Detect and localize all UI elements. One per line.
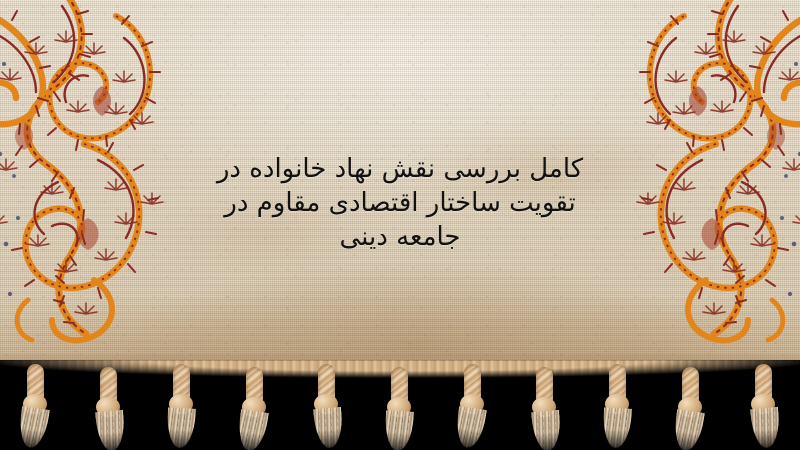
title-line-3: جامعه دینی (180, 220, 620, 254)
fringe-tassel (674, 367, 708, 450)
fringe-tassel (165, 364, 199, 448)
tassel-threads (166, 407, 196, 448)
fringe-tassel (383, 367, 417, 450)
tassel-threads (235, 409, 268, 450)
fringe-tassel (238, 367, 272, 450)
tassel-threads (453, 406, 486, 450)
fringe-tassel (747, 364, 781, 448)
tassel-threads (95, 410, 126, 450)
tassel-threads (17, 406, 50, 450)
fringe-tassel (19, 364, 53, 448)
tassel-threads (671, 409, 704, 450)
page-title: کامل بررسی نقش نهاد خانواده در تقویت ساخ… (180, 152, 620, 254)
tassel-threads (602, 407, 632, 448)
tassel-threads (532, 410, 563, 450)
fringe-tassel (310, 364, 344, 448)
tassel-fringe (0, 360, 800, 450)
fringe-tassel (601, 364, 635, 448)
fringe-tassel (92, 367, 126, 450)
title-slide: کامل بررسی نقش نهاد خانواده در تقویت ساخ… (0, 0, 800, 450)
title-line-1: کامل بررسی نقش نهاد خانواده در (180, 152, 620, 186)
tassel-threads (384, 410, 414, 450)
fringe-tassel (456, 364, 490, 448)
title-line-2: تقویت ساختار اقتصادی مقاوم در (180, 186, 620, 220)
tassel-threads (750, 407, 781, 449)
fringe-tassel (528, 367, 562, 450)
tassel-threads (313, 407, 344, 449)
